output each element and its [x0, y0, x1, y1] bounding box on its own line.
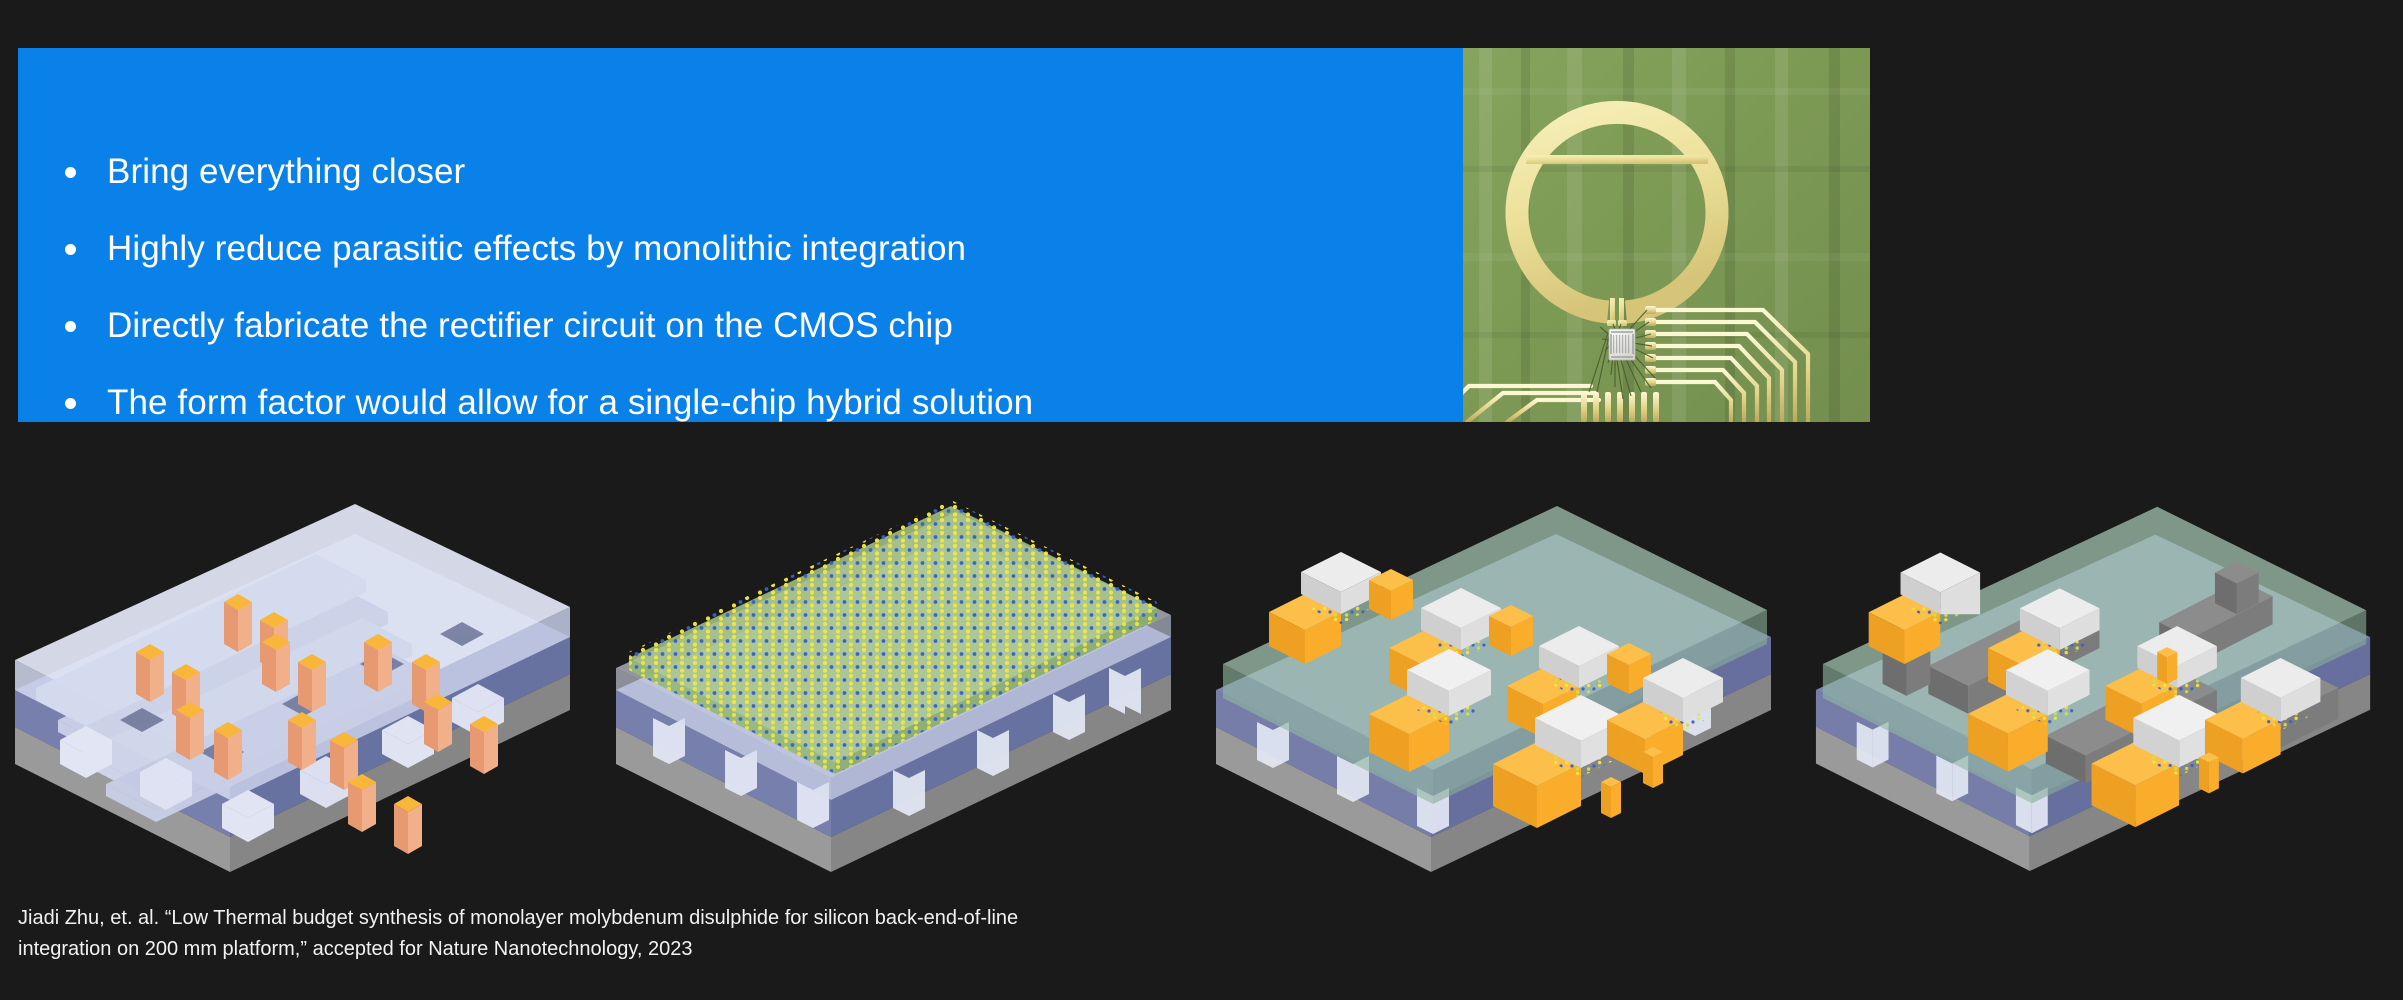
bullet-dot-icon [65, 167, 76, 178]
slide-root: Bring everything closer Highly reduce pa… [0, 0, 2403, 1000]
stage-interconnect-routing [1801, 452, 2401, 872]
bullet-label: The form factor would allow for a single… [107, 381, 1033, 422]
citation-caption: Jiadi Zhu, et. al. “Low Thermal budget s… [18, 903, 1268, 965]
bullet-dot-icon [65, 244, 76, 255]
bullet-label: Directly fabricate the rectifier circuit… [107, 304, 953, 348]
stage-mos2-monolayer-growth [601, 452, 1201, 872]
citation-line-2: integration on 200 mm platform,” accepte… [18, 934, 1268, 965]
bullet-dot-icon [65, 321, 76, 332]
bullet-item: Highly reduce parasitic effects by monol… [63, 225, 966, 273]
bullet-item: Directly fabricate the rectifier circuit… [63, 302, 953, 350]
content-banner: Bring everything closer Highly reduce pa… [18, 48, 1870, 422]
citation-line-1: Jiadi Zhu, et. al. “Low Thermal budget s… [18, 903, 1268, 934]
bullet-item: The form factor would allow for a single… [63, 379, 1033, 422]
stage-cmos-beol-substrate [0, 452, 600, 872]
bullet-list-panel: Bring everything closer Highly reduce pa… [18, 48, 1463, 422]
bullet-label: Highly reduce parasitic effects by monol… [107, 227, 966, 271]
rfid-chip-antenna-photo [1463, 48, 1870, 422]
bullet-label: Bring everything closer [107, 150, 465, 194]
stage-transistor-contact-patterning [1201, 452, 1801, 872]
process-stage-row [0, 452, 2403, 872]
bullet-item: Bring everything closer [63, 148, 465, 196]
silicon-die [1609, 329, 1635, 360]
bullet-dot-icon [65, 398, 76, 409]
left-trace-fan [1463, 327, 1615, 399]
